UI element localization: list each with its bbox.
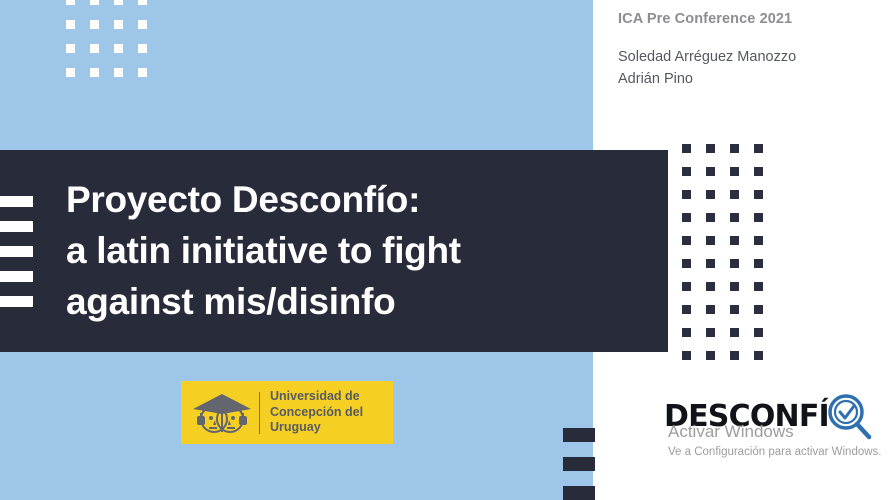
dot (706, 190, 715, 199)
dot (730, 213, 739, 222)
stripe (0, 271, 33, 282)
watermark-title: Activar Windows (668, 422, 882, 442)
top-left-dot-grid (66, 0, 162, 92)
dot (138, 20, 147, 29)
dot (730, 144, 739, 153)
stripe (563, 486, 595, 500)
dot (682, 259, 691, 268)
author-list: Soledad Arréguez Manozzo Adrián Pino (618, 46, 878, 90)
dot (90, 20, 99, 29)
dot (706, 236, 715, 245)
dot (90, 44, 99, 53)
stripe (563, 428, 595, 442)
title-block: Proyecto Desconfío: a latin initiative t… (0, 150, 668, 352)
dot (138, 44, 147, 53)
dot (682, 305, 691, 314)
conference-name: ICA Pre Conference 2021 (618, 11, 878, 27)
dot (138, 68, 147, 77)
dot (682, 144, 691, 153)
dot (706, 328, 715, 337)
dot (730, 236, 739, 245)
dot (682, 351, 691, 360)
stripe (563, 457, 595, 471)
dot (706, 213, 715, 222)
dot (114, 44, 123, 53)
dot (114, 68, 123, 77)
dot (682, 213, 691, 222)
graduation-cap-faces-icon (189, 388, 255, 438)
stripe (0, 246, 33, 257)
logo-divider (259, 392, 260, 434)
dot (754, 167, 763, 176)
dot (730, 167, 739, 176)
presentation-slide: ICA Pre Conference 2021 Soledad Arréguez… (0, 0, 889, 500)
dot (66, 0, 75, 5)
title-stripe-decoration (0, 196, 33, 307)
right-dot-grid (682, 144, 778, 374)
dot (706, 305, 715, 314)
windows-activation-watermark: Activar Windows Ve a Configuración para … (668, 422, 882, 460)
dot (682, 167, 691, 176)
dot (706, 351, 715, 360)
dot (90, 0, 99, 5)
dot (138, 0, 147, 5)
dot (682, 190, 691, 199)
stripe (0, 296, 33, 307)
ucu-logo: Universidad de Concepción del Uruguay (181, 381, 393, 444)
dot (754, 259, 763, 268)
dot (754, 305, 763, 314)
dot (730, 282, 739, 291)
dot (754, 351, 763, 360)
dot (754, 213, 763, 222)
watermark-subtitle: Ve a Configuración para activar Windows. (668, 444, 882, 460)
dot (730, 305, 739, 314)
dot (754, 328, 763, 337)
dot (754, 144, 763, 153)
dot (682, 328, 691, 337)
stripe (0, 221, 33, 232)
dot (706, 259, 715, 268)
slide-title: Proyecto Desconfío: a latin initiative t… (66, 174, 461, 327)
ucu-logo-text: Universidad de Concepción del Uruguay (270, 389, 363, 436)
dot (706, 167, 715, 176)
dot (754, 282, 763, 291)
dot (730, 351, 739, 360)
dot (114, 20, 123, 29)
header-block: ICA Pre Conference 2021 Soledad Arréguez… (618, 11, 878, 90)
dot (730, 328, 739, 337)
dot (682, 236, 691, 245)
dot (90, 68, 99, 77)
dot (706, 282, 715, 291)
dot (66, 20, 75, 29)
dot (66, 68, 75, 77)
dot (66, 44, 75, 53)
dot (682, 282, 691, 291)
dot (754, 190, 763, 199)
dot (114, 0, 123, 5)
dot (754, 236, 763, 245)
dot (730, 259, 739, 268)
bottom-stripe-decoration (563, 428, 595, 500)
dot (730, 190, 739, 199)
stripe (0, 196, 33, 207)
dot (706, 144, 715, 153)
